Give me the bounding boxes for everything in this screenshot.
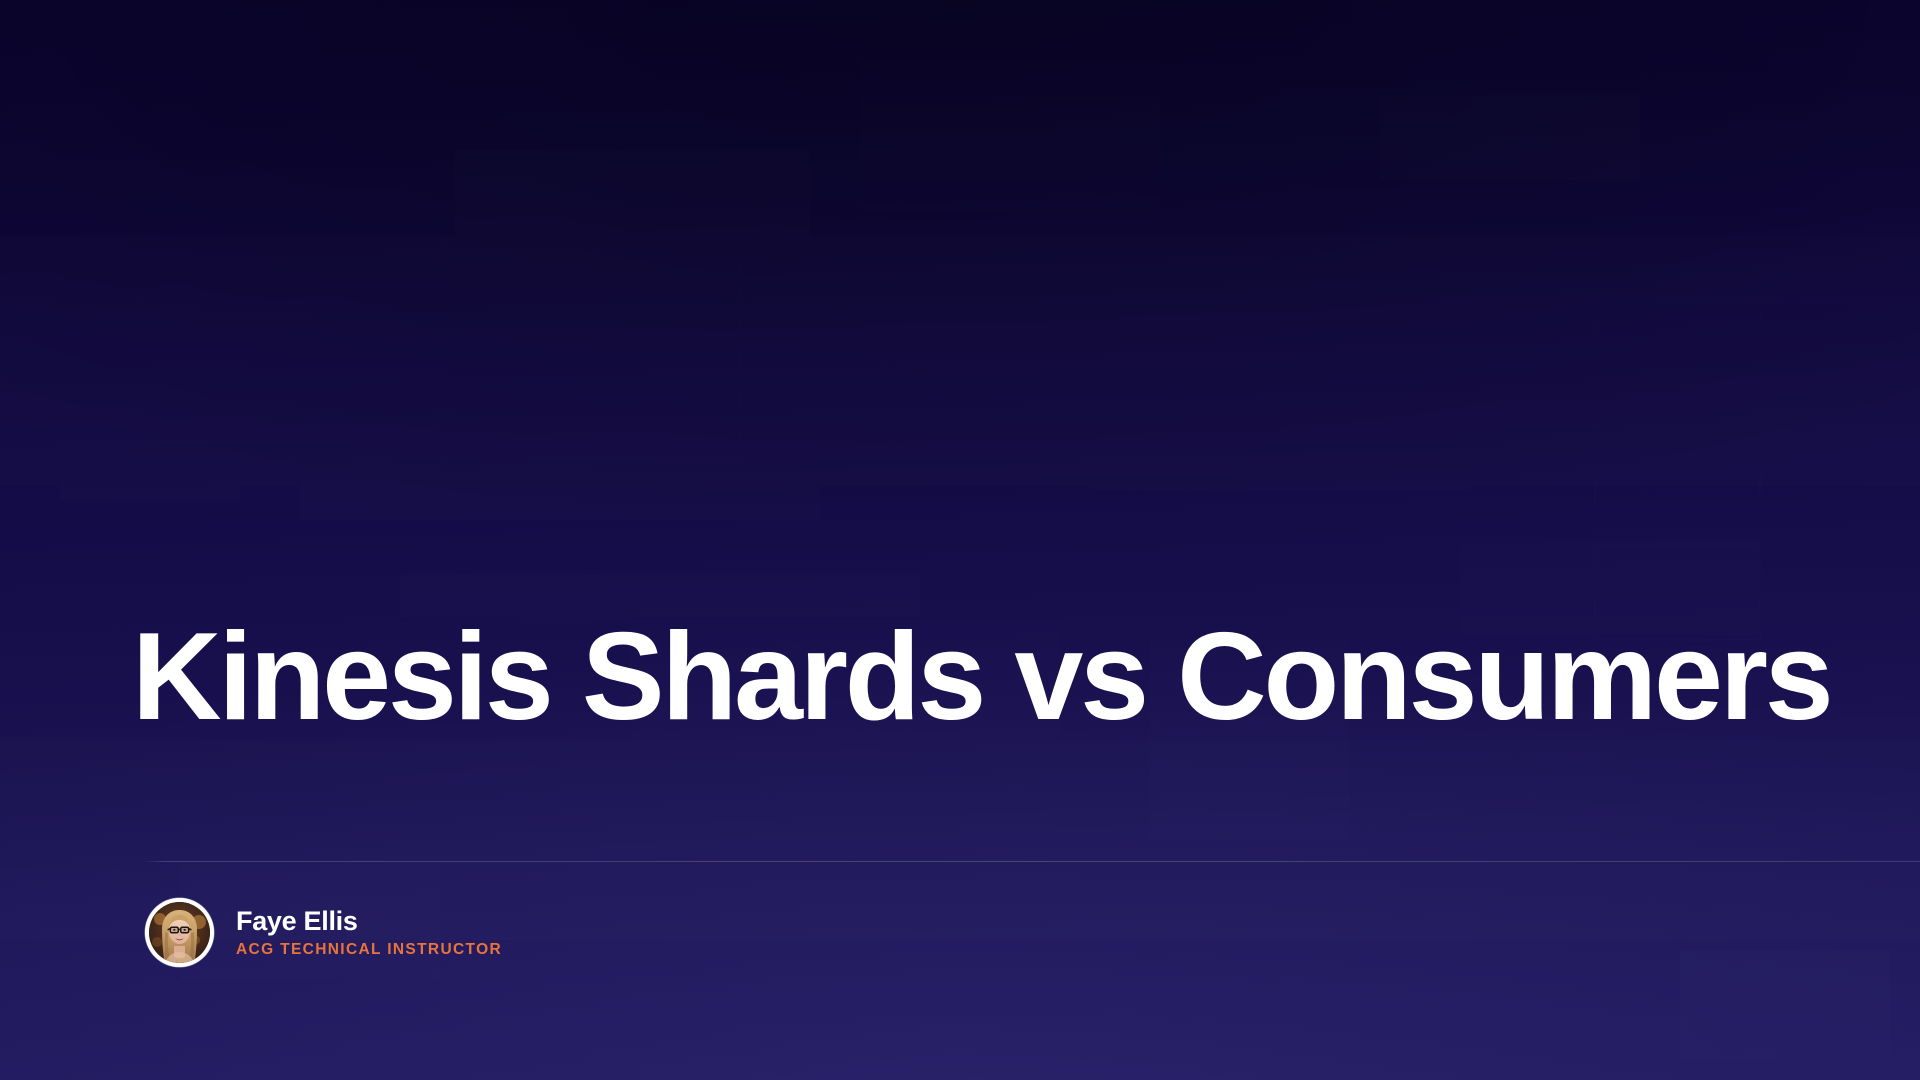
presenter-role: ACG TECHNICAL INSTRUCTOR [236,941,502,958]
divider [143,861,1920,862]
presenter-text: Faye Ellis ACG TECHNICAL INSTRUCTOR [236,906,502,958]
presenter-name: Faye Ellis [236,906,502,936]
page-title: Kinesis Shards vs Consumers [132,614,1832,740]
avatar [145,898,214,967]
title-slide: Kinesis Shards vs Consumers [0,0,1920,1080]
avatar-photo-icon [149,902,210,963]
slide-content: Kinesis Shards vs Consumers [0,0,1920,1080]
presenter-block: Faye Ellis ACG TECHNICAL INSTRUCTOR [145,898,502,967]
